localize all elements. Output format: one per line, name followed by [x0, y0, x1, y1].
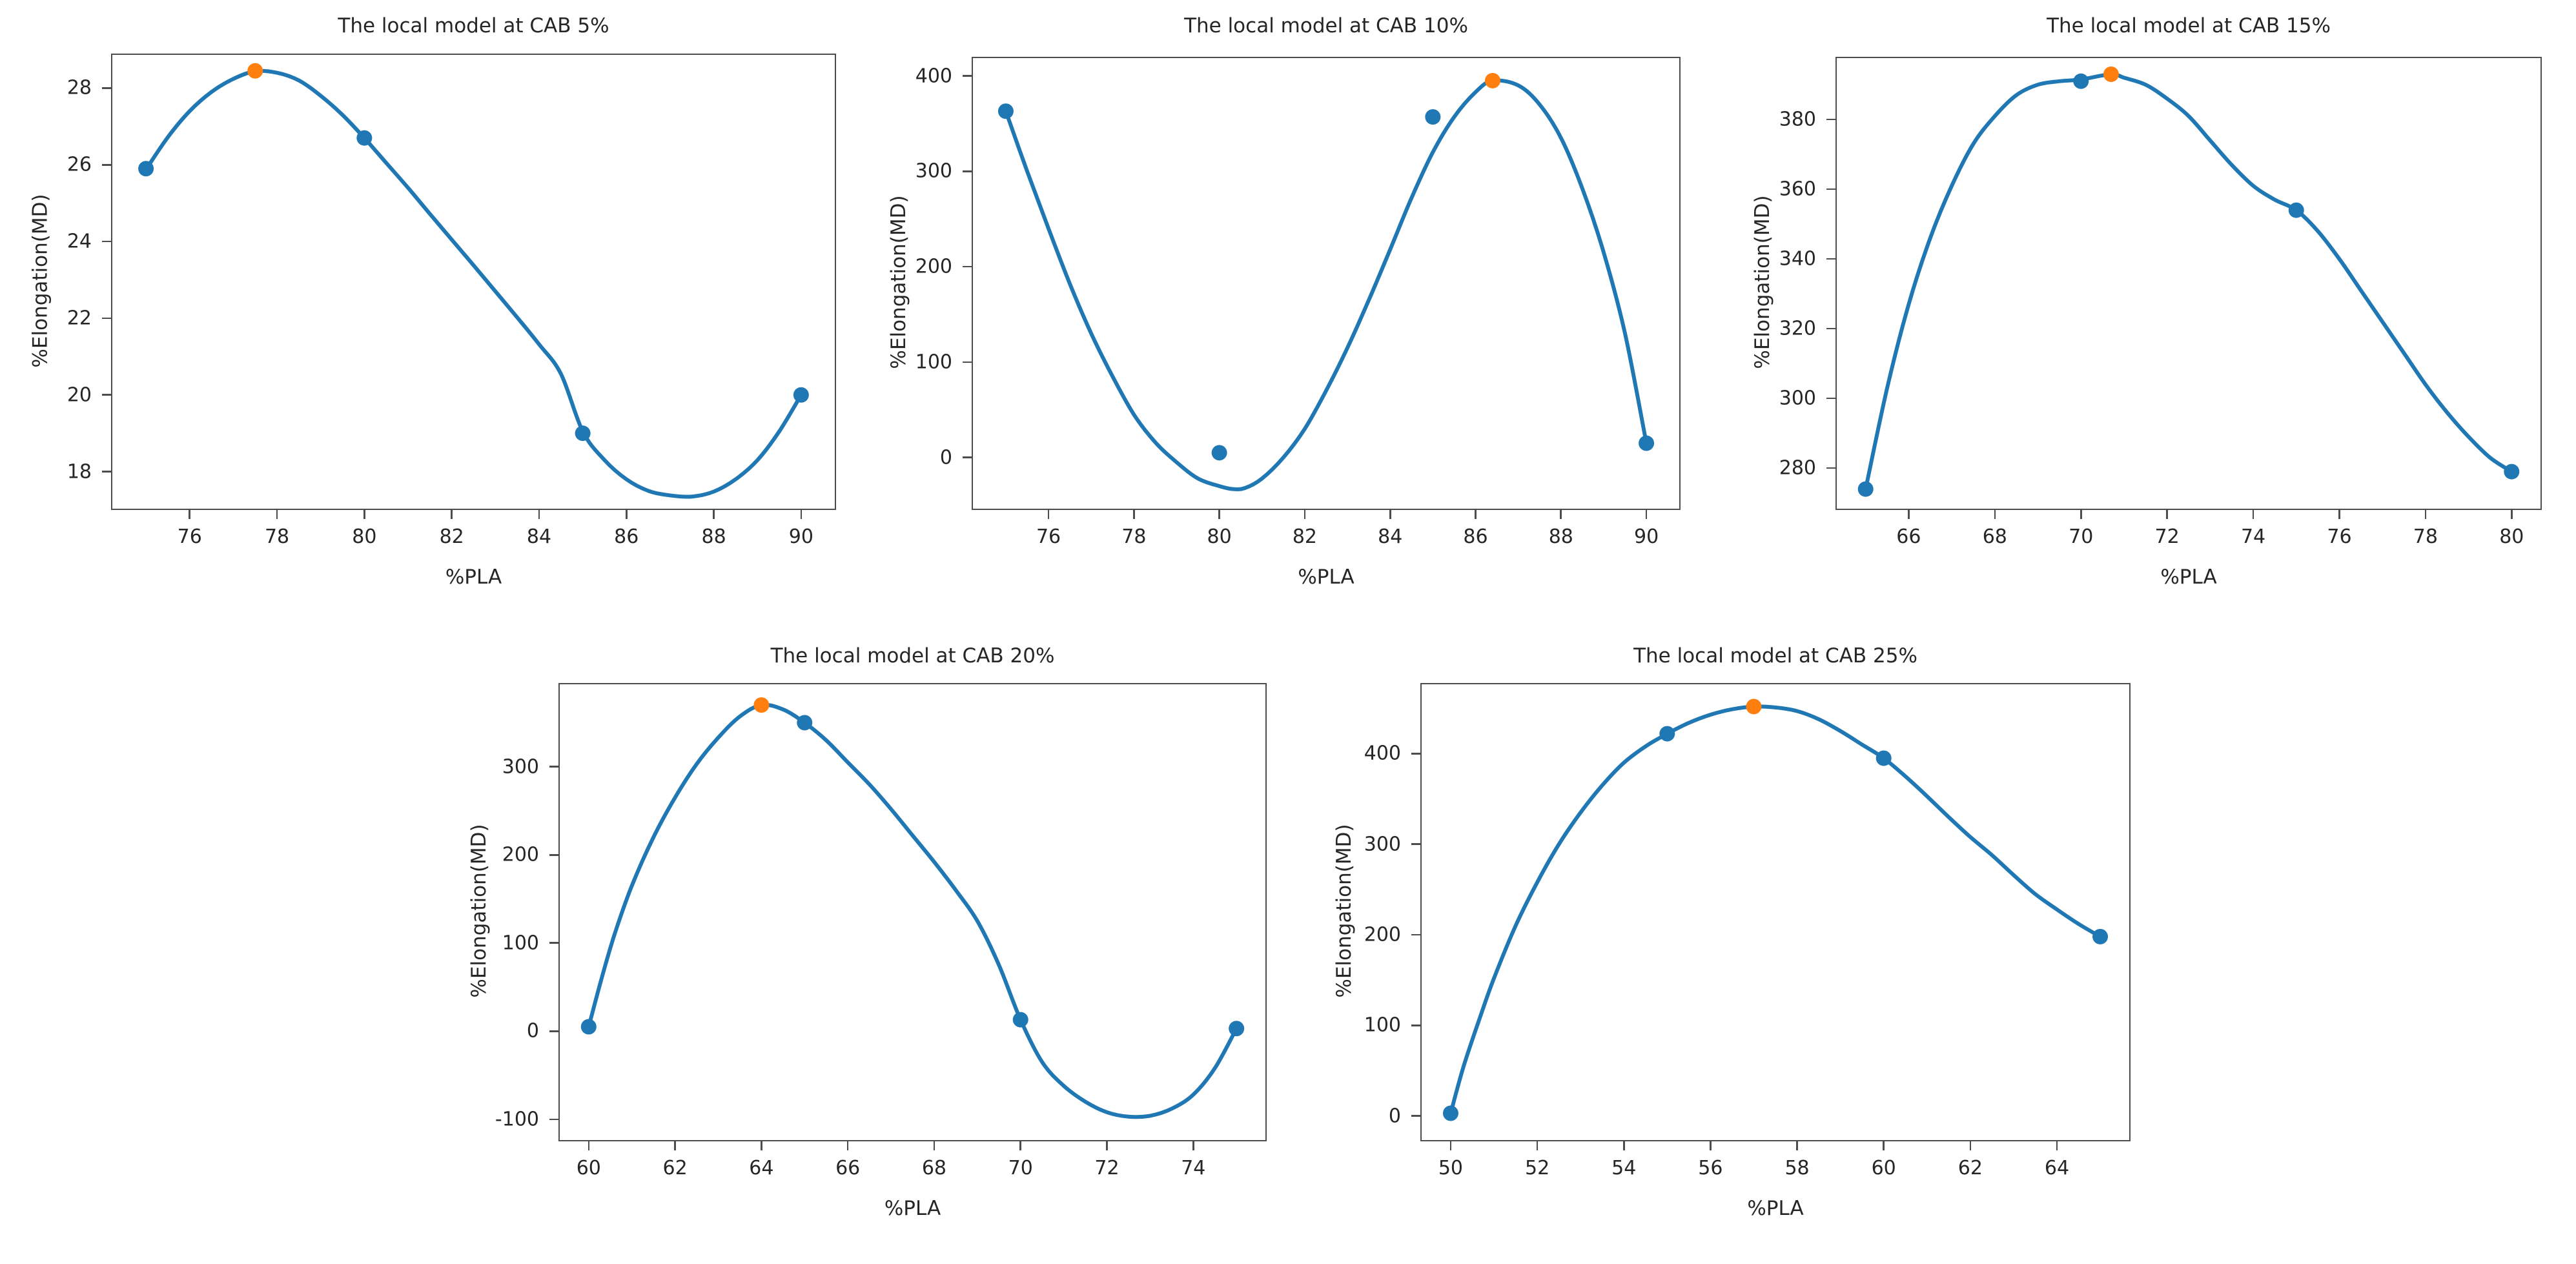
data-point-marker [2092, 929, 2108, 944]
data-point-marker [1876, 750, 1892, 766]
optimum-point-marker [1746, 698, 1761, 714]
data-point-marker [1659, 726, 1675, 742]
data-point-marker [1443, 1106, 1458, 1121]
figure-canvas: The local model at CAB 5%182022242628767… [0, 0, 2576, 1264]
chart-panel-5: The local model at CAB 25%01002003004005… [0, 0, 2576, 1264]
plot-series [0, 0, 2576, 1264]
model-curve [1451, 706, 2100, 1113]
